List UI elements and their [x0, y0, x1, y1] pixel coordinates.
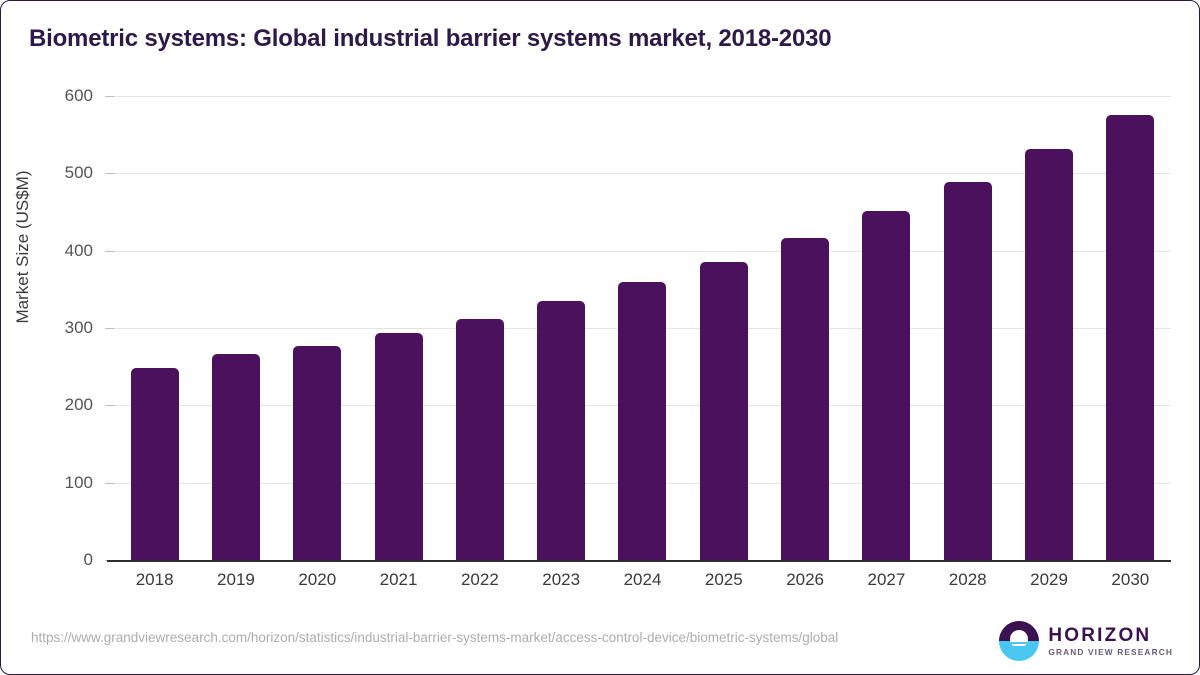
- x-tick-label: 2022: [461, 570, 499, 590]
- bar-slot: [521, 96, 602, 560]
- y-tick-label: 200: [13, 395, 93, 415]
- x-tick-label: 2025: [705, 570, 743, 590]
- y-tick-label: 600: [13, 86, 93, 106]
- x-tick-label: 2021: [380, 570, 418, 590]
- horizon-logo: HORIZON GRAND VIEW RESEARCH: [999, 621, 1173, 661]
- bar-slot: [683, 96, 764, 560]
- chart-canvas: Biometric systems: Global industrial bar…: [0, 0, 1200, 675]
- horizon-logo-text: HORIZON GRAND VIEW RESEARCH: [1048, 626, 1173, 656]
- x-tick-label: 2018: [136, 570, 174, 590]
- bar[interactable]: [618, 282, 666, 560]
- bar-slot: [114, 96, 195, 560]
- y-tick-label: 300: [13, 318, 93, 338]
- bar-slot: [927, 96, 1008, 560]
- bar-slot: [764, 96, 845, 560]
- y-tick-mark: [105, 96, 114, 97]
- horizon-logo-icon: [999, 621, 1039, 661]
- logo-tagline: GRAND VIEW RESEARCH: [1048, 648, 1173, 656]
- bar-slot: [602, 96, 683, 560]
- bar-slot: [195, 96, 276, 560]
- y-tick-mark: [105, 251, 114, 252]
- y-tick-label: 500: [13, 163, 93, 183]
- bar[interactable]: [293, 346, 341, 560]
- y-tick-mark: [105, 328, 114, 329]
- chart-plot-wrapper: Market Size (US$M) 0100200300400500600 2…: [1, 1, 1200, 675]
- logo-wordmark: HORIZON: [1048, 626, 1173, 645]
- x-tick-label: 2019: [217, 570, 255, 590]
- bar[interactable]: [944, 182, 992, 560]
- bar[interactable]: [456, 319, 504, 560]
- bar[interactable]: [131, 368, 179, 560]
- y-tick-mark: [105, 483, 114, 484]
- x-tick-label: 2029: [1030, 570, 1068, 590]
- x-axis-line: [107, 560, 1171, 562]
- x-tick-label: 2024: [624, 570, 662, 590]
- bar[interactable]: [537, 301, 585, 560]
- x-tick-label: 2023: [542, 570, 580, 590]
- bar[interactable]: [1025, 149, 1073, 560]
- bar[interactable]: [781, 238, 829, 560]
- x-tick-label: 2028: [949, 570, 987, 590]
- y-tick-label: 0: [13, 550, 93, 570]
- bar[interactable]: [700, 262, 748, 561]
- bar-series: [114, 96, 1171, 560]
- source-url[interactable]: https://www.grandviewresearch.com/horizo…: [31, 629, 931, 647]
- bar[interactable]: [862, 211, 910, 560]
- bar-slot: [439, 96, 520, 560]
- x-tick-label: 2026: [786, 570, 824, 590]
- y-tick-label: 400: [13, 241, 93, 261]
- y-tick-mark: [105, 173, 114, 174]
- bar[interactable]: [375, 333, 423, 560]
- x-tick-label: 2027: [868, 570, 906, 590]
- bar[interactable]: [212, 354, 260, 560]
- y-tick-label: 100: [13, 473, 93, 493]
- y-tick-mark: [105, 405, 114, 406]
- bar-slot: [277, 96, 358, 560]
- bar-slot: [1008, 96, 1089, 560]
- x-tick-label: 2020: [298, 570, 336, 590]
- bar-slot: [1090, 96, 1171, 560]
- bar-slot: [846, 96, 927, 560]
- x-tick-label: 2030: [1111, 570, 1149, 590]
- bar[interactable]: [1106, 115, 1154, 560]
- bar-slot: [358, 96, 439, 560]
